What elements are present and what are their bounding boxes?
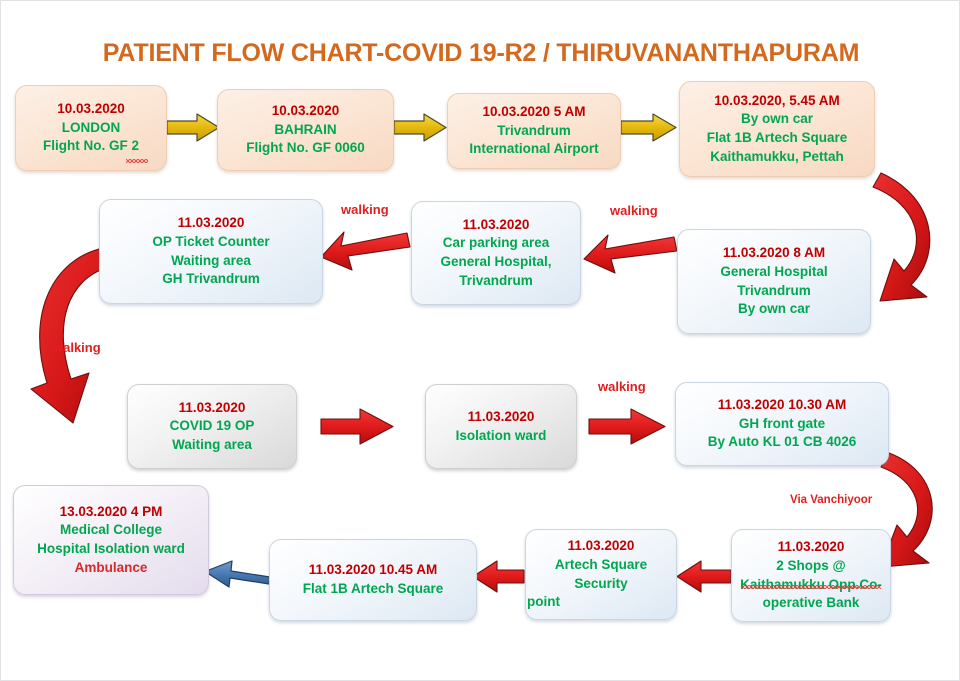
node-line: 2 Shops @: [740, 557, 882, 576]
node-line: 10.03.2020: [226, 102, 385, 121]
node-op-ticket-counter[interactable]: 11.03.2020 OP Ticket Counter Waiting are…: [99, 199, 323, 304]
node-line: International Airport: [456, 140, 612, 159]
node-line: GH front gate: [684, 415, 880, 434]
arrow-shops-to-security: [677, 561, 731, 592]
node-line: Medical College: [22, 521, 200, 540]
node-line: LONDON: [24, 119, 158, 138]
node-line: Artech Square: [534, 556, 668, 575]
node-general-hospital-arrival[interactable]: 11.03.2020 8 AM General Hospital Trivand…: [677, 229, 871, 334]
node-line: Trivandrum: [686, 282, 862, 301]
node-line: 11.03.2020 10.45 AM: [278, 561, 468, 580]
node-covid-19-op[interactable]: 11.03.2020 COVID 19 OP Waiting area: [127, 384, 297, 469]
arrow-flat-to-general-hospital: [873, 173, 930, 301]
arrow-car-parking-to-op-counter: [321, 232, 410, 270]
node-line: Kaithamukku, Pettah: [688, 148, 866, 167]
node-line: Isolation ward: [434, 427, 568, 446]
arrow-op-counter-to-covid-op: [31, 249, 109, 423]
flow-chart-canvas: PATIENT FLOW CHART-COVID 19-R2 / THIRUVA…: [0, 0, 960, 681]
node-line: By Auto KL 01 CB 4026: [684, 433, 880, 452]
node-line: point: [527, 593, 661, 612]
node-artech-square-home[interactable]: 10.03.2020, 5.45 AM By own car Flat 1B A…: [679, 81, 875, 177]
node-isolation-ward[interactable]: 11.03.2020 Isolation ward: [425, 384, 577, 469]
node-line: BAHRAIN: [226, 121, 385, 140]
arrow-covid-op-to-isolation: [321, 409, 393, 444]
node-line: 11.03.2020: [740, 538, 882, 557]
node-line: OP Ticket Counter: [108, 233, 314, 252]
node-line: operative Bank: [740, 594, 882, 613]
annotation-walking-3: walking: [53, 340, 101, 355]
node-bahrain[interactable]: 10.03.2020 BAHRAIN Flight No. GF 0060: [217, 89, 394, 171]
node-line: Flight No. GF 0060: [226, 139, 385, 158]
annotation-walking-4: walking: [598, 379, 646, 394]
arrow-isolation-to-front-gate: [589, 409, 665, 444]
node-line: General Hospital,: [420, 253, 572, 272]
arrow-gh-to-car-parking: [584, 235, 677, 273]
node-line: 11.03.2020: [434, 408, 568, 427]
node-trivandrum-airport[interactable]: 10.03.2020 5 AM Trivandrum International…: [447, 93, 621, 169]
arrow-flat-to-medical-college: [205, 561, 270, 587]
node-line: Security: [534, 575, 668, 594]
node-line: 11.03.2020: [108, 214, 314, 233]
page-title: PATIENT FLOW CHART-COVID 19-R2 / THIRUVA…: [1, 39, 960, 68]
annotation-walking-2: walking: [610, 203, 658, 218]
node-line: Waiting area: [108, 252, 314, 271]
node-line: Flat 1B Artech Square: [688, 129, 866, 148]
node-line: Trivandrum: [420, 272, 572, 291]
node-flat-1b-return[interactable]: 11.03.2020 10.45 AM Flat 1B Artech Squar…: [269, 539, 477, 621]
node-line: 10.03.2020 5 AM: [456, 103, 612, 122]
node-car-parking-area[interactable]: 11.03.2020 Car parking area General Hosp…: [411, 201, 581, 305]
node-line: General Hospital: [686, 263, 862, 282]
node-line: Waiting area: [136, 436, 288, 455]
arrow-airport-to-flat: [621, 114, 676, 141]
arrow-london-to-bahrain: [167, 114, 219, 141]
node-line: Trivandrum: [456, 122, 612, 141]
spellcheck-underline: [126, 159, 148, 163]
node-line: 11.03.2020 10.30 AM: [684, 396, 880, 415]
annotation-walking-1: walking: [341, 202, 389, 217]
node-line: 11.03.2020: [420, 216, 572, 235]
node-line: 11.03.2020: [534, 537, 668, 556]
spellcheck-underline: [741, 585, 881, 589]
arrow-bahrain-to-airport: [394, 114, 446, 141]
annotation-via-vanchiyoor: Via Vanchiyoor: [790, 494, 872, 506]
node-line: 11.03.2020 8 AM: [686, 244, 862, 263]
node-line: Flight No. GF 2: [24, 137, 158, 156]
node-two-shops-kaithamukku[interactable]: 11.03.2020 2 Shops @ Kaithamukku Opp.Co-…: [731, 529, 891, 622]
node-line: 10.03.2020, 5.45 AM: [688, 92, 866, 111]
node-line: 10.03.2020: [24, 100, 158, 119]
node-gh-front-gate[interactable]: 11.03.2020 10.30 AM GH front gate By Aut…: [675, 382, 889, 466]
node-line: GH Trivandrum: [108, 270, 314, 289]
node-medical-college-isolation[interactable]: 13.03.2020 4 PM Medical College Hospital…: [13, 485, 209, 595]
node-line: Ambulance: [22, 559, 200, 578]
node-line: 13.03.2020 4 PM: [22, 503, 200, 522]
node-line: 11.03.2020: [136, 399, 288, 418]
node-line: By own car: [686, 300, 862, 319]
node-line: By own car: [688, 110, 866, 129]
arrow-security-to-flat: [473, 561, 524, 592]
node-artech-square-security[interactable]: 11.03.2020 Artech Square Security point: [525, 529, 677, 620]
node-line: COVID 19 OP: [136, 417, 288, 436]
node-line: Hospital Isolation ward: [22, 540, 200, 559]
node-line: Car parking area: [420, 234, 572, 253]
node-line: Flat 1B Artech Square: [278, 580, 468, 599]
